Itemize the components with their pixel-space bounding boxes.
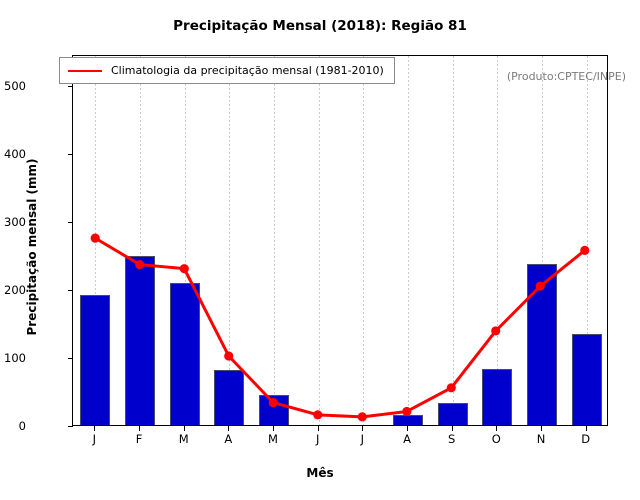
x-tick-label: O [476,432,516,446]
chart-figure: Precipitação Mensal (2018): Região 81 Pr… [0,0,640,500]
x-tick-mark [407,426,408,431]
x-tick-mark [139,426,140,431]
data-point-marker [402,407,411,416]
x-tick-mark [94,426,95,431]
data-point-marker [269,398,278,407]
y-tick-label: 300 [0,215,26,229]
y-tick-mark [68,358,73,359]
data-point-marker [580,246,589,255]
y-tick-mark [68,426,73,427]
x-tick-mark [541,426,542,431]
x-tick-label: A [387,432,427,446]
plot-area [72,55,608,426]
page-title: Precipitação Mensal (2018): Região 81 [0,18,640,34]
x-tick-label: M [164,432,204,446]
x-tick-mark [452,426,453,431]
data-point-marker [536,282,545,291]
x-tick-label: D [566,432,606,446]
data-point-marker [491,326,500,335]
y-tick-label: 0 [0,419,26,433]
climatology-line [95,238,585,417]
x-tick-label: J [74,432,114,446]
y-tick-mark [68,222,73,223]
x-tick-label: J [342,432,382,446]
x-tick-mark [228,426,229,431]
data-point-marker [313,410,322,419]
legend-item-label: Climatologia da precipitação mensal (198… [111,64,384,77]
x-tick-label: S [432,432,472,446]
x-tick-label: J [298,432,338,446]
y-tick-label: 200 [0,283,26,297]
data-point-marker [180,264,189,273]
y-tick-label: 100 [0,351,26,365]
x-tick-label: N [521,432,561,446]
data-point-marker [447,383,456,392]
data-point-marker [135,260,144,269]
x-tick-mark [318,426,319,431]
y-tick-label: 400 [0,147,26,161]
y-tick-mark [68,290,73,291]
y-axis-label: Precipitação mensal (mm) [25,117,39,377]
y-tick-mark [68,154,73,155]
x-tick-label: F [119,432,159,446]
y-tick-label: 500 [0,79,26,93]
data-point-marker [358,412,367,421]
x-tick-mark [496,426,497,431]
source-annotation: (Produto:CPTEC/INPE) [507,70,626,83]
data-point-marker [224,351,233,360]
data-point-marker [91,234,100,243]
legend: Climatologia da precipitação mensal (198… [59,57,395,84]
x-tick-label: A [208,432,248,446]
line-swatch-icon [68,70,102,72]
x-tick-mark [184,426,185,431]
x-tick-mark [273,426,274,431]
x-tick-label: M [253,432,293,446]
x-tick-mark [586,426,587,431]
x-axis-label: Mês [0,466,640,480]
x-tick-mark [362,426,363,431]
y-tick-mark [68,86,73,87]
climatology-line-series [73,56,607,425]
